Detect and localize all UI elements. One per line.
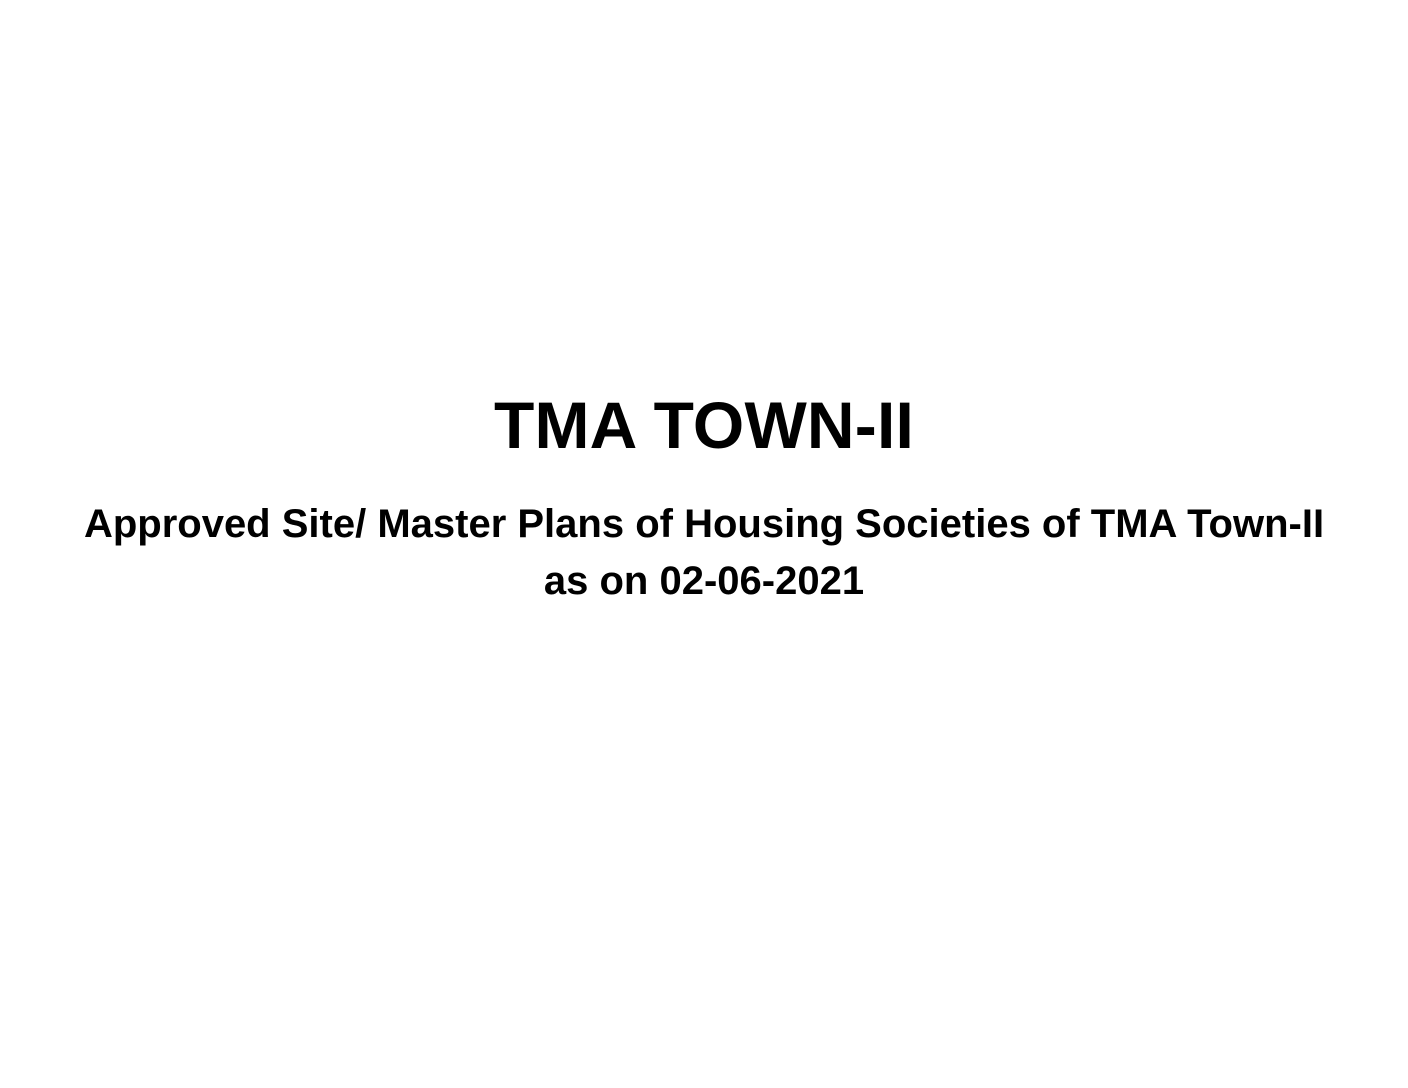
slide-body-empty-area — [0, 640, 1408, 1088]
subtitle-line-1: Approved Site/ Master Plans of Housing S… — [0, 496, 1408, 553]
subtitle-placeholder: Approved Site/ Master Plans of Housing S… — [0, 496, 1408, 610]
page-title: TMA TOWN-II — [0, 386, 1408, 464]
slide-canvas: TMA TOWN-II Approved Site/ Master Plans … — [0, 0, 1408, 1088]
title-placeholder: TMA TOWN-II — [0, 386, 1408, 464]
subtitle-line-2: as on 02-06-2021 — [0, 553, 1408, 610]
